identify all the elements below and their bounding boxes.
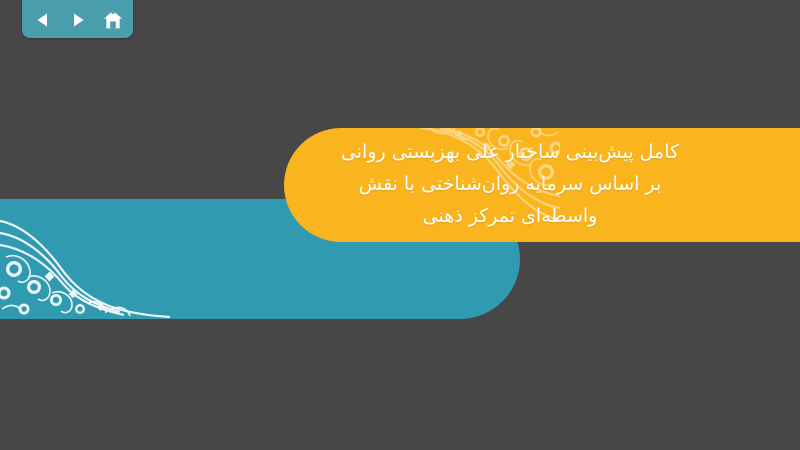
forward-icon[interactable]	[67, 9, 89, 31]
presentation-slide: کامل پیش‌بینی ساختار علی بهزیستی روانی ب…	[0, 0, 800, 450]
arabesque-corner-ornament	[0, 199, 170, 319]
home-icon[interactable]	[102, 9, 124, 31]
navigation-toolbar	[22, 0, 133, 38]
orange-accent-band	[284, 128, 800, 242]
back-icon[interactable]	[32, 9, 54, 31]
arabesque-corner-ornament	[395, 128, 560, 242]
